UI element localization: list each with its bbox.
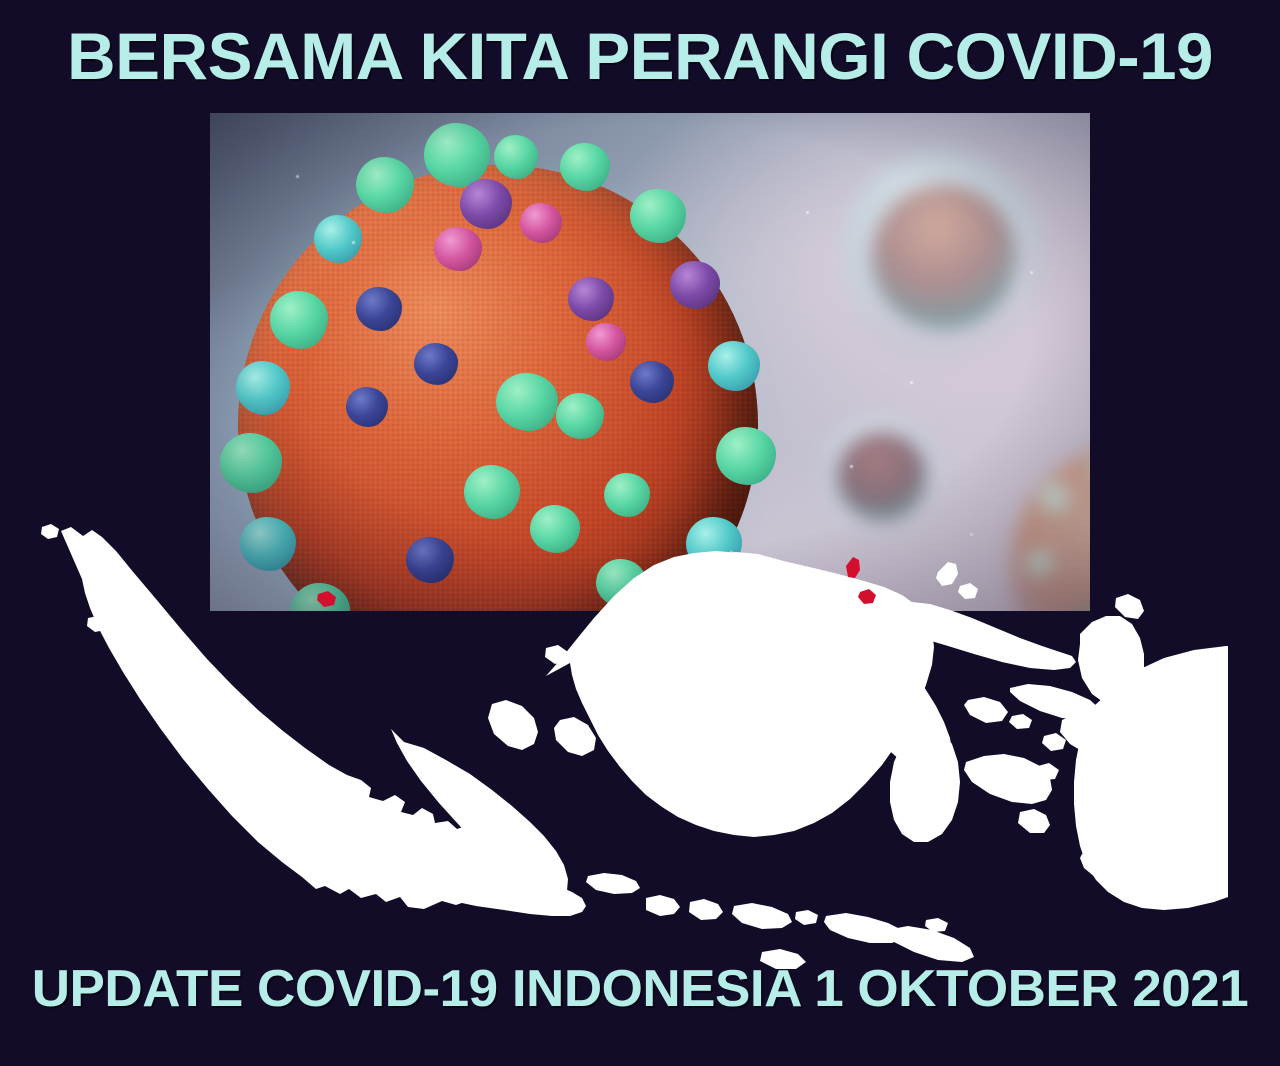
island-maluku-small-a	[1097, 659, 1120, 676]
dust-particle	[970, 533, 973, 536]
footer-caption: UPDATE COVID-19 INDONESIA 1 OKTOBER 2021	[0, 958, 1280, 1020]
virion-particle	[238, 165, 758, 611]
island-komodo	[795, 910, 818, 925]
island-weh	[41, 524, 59, 539]
island-lombok	[689, 899, 723, 920]
island-belitung	[554, 717, 596, 756]
island-sulawesi-south-arm	[890, 720, 960, 842]
island-mentawai-south	[248, 759, 285, 807]
island-halmahera-arm	[1100, 696, 1148, 742]
island-buru	[964, 697, 1008, 723]
island-java	[318, 838, 586, 916]
spike-protein	[586, 323, 626, 361]
island-riau-cluster-a	[545, 645, 568, 664]
spike-protein	[240, 517, 296, 571]
spike-protein	[716, 427, 776, 485]
island-riau-cluster-b	[572, 663, 595, 681]
spike-protein	[568, 277, 614, 321]
island-morotai	[1115, 594, 1144, 619]
dust-particle	[910, 381, 913, 384]
spike-protein	[356, 157, 414, 213]
spike-protein	[346, 387, 388, 427]
blurred-virion-mid-right	[818, 413, 946, 541]
island-mentawai-tip	[290, 806, 320, 846]
spike-protein	[236, 361, 290, 415]
spike-protein	[530, 505, 580, 553]
spike-protein	[596, 559, 646, 607]
island-alor	[925, 918, 948, 932]
blurred-virion-core	[838, 433, 925, 520]
island-raja-ampat-b	[1036, 763, 1059, 780]
island-timor	[884, 926, 974, 962]
spike-protein	[496, 373, 558, 431]
island-maluku-small-b	[1139, 674, 1161, 689]
island-papua-birdhead	[1060, 708, 1172, 766]
island-ambon	[1009, 714, 1032, 729]
covid-poster: BERSAMA KITA PERANGI COVID-19	[0, 0, 1280, 1066]
island-anambas	[619, 616, 638, 631]
island-madura	[586, 873, 640, 894]
spike-protein	[630, 189, 686, 243]
spike-protein	[414, 343, 458, 385]
spike-protein	[708, 341, 760, 391]
spike-protein	[406, 537, 454, 583]
island-halmahera	[1078, 616, 1144, 706]
spike-protein	[604, 473, 650, 517]
island-sumatra-south	[391, 729, 568, 901]
coronavirus-image	[210, 113, 1090, 611]
spike-protein	[560, 143, 610, 191]
spike-protein	[464, 465, 520, 519]
island-buton	[1018, 809, 1050, 833]
dust-particle	[352, 241, 355, 244]
island-sulawesi	[846, 602, 1076, 774]
island-raja-ampat-a	[1042, 733, 1066, 751]
spike-protein	[494, 135, 538, 179]
spike-protein	[424, 123, 490, 187]
island-simeulue	[87, 616, 107, 632]
blurred-virion-core	[872, 185, 1016, 329]
spike-protein	[434, 227, 482, 271]
spike-protein	[556, 393, 604, 439]
spike-protein	[220, 433, 282, 493]
spike-protein	[270, 291, 328, 349]
dust-particle	[806, 211, 809, 214]
spike-protein	[630, 361, 674, 403]
island-bali	[646, 895, 680, 916]
dust-particle	[296, 175, 299, 178]
island-seram	[1010, 684, 1100, 720]
island-riau-cluster-c	[594, 685, 615, 702]
spike-protein	[314, 215, 362, 263]
island-mentawai-north	[195, 703, 232, 752]
island-aru	[1080, 850, 1116, 878]
island-flores	[824, 913, 904, 943]
island-sumbawa	[732, 903, 792, 929]
spike-protein	[686, 517, 742, 571]
spike-protein	[520, 203, 562, 243]
island-papua	[1074, 646, 1280, 910]
dust-particle	[1030, 271, 1033, 274]
island-sulawesi-southeast-arm	[964, 754, 1052, 804]
dust-particle	[730, 551, 733, 554]
island-bangka	[488, 700, 538, 750]
dust-particle	[850, 465, 853, 468]
spike-protein	[670, 261, 720, 309]
spike-protein	[356, 287, 402, 331]
page-title: BERSAMA KITA PERANGI COVID-19	[0, 18, 1280, 94]
spike-protein	[460, 179, 512, 229]
island-nias	[146, 636, 187, 690]
blurred-virion-top-right	[838, 151, 1050, 363]
